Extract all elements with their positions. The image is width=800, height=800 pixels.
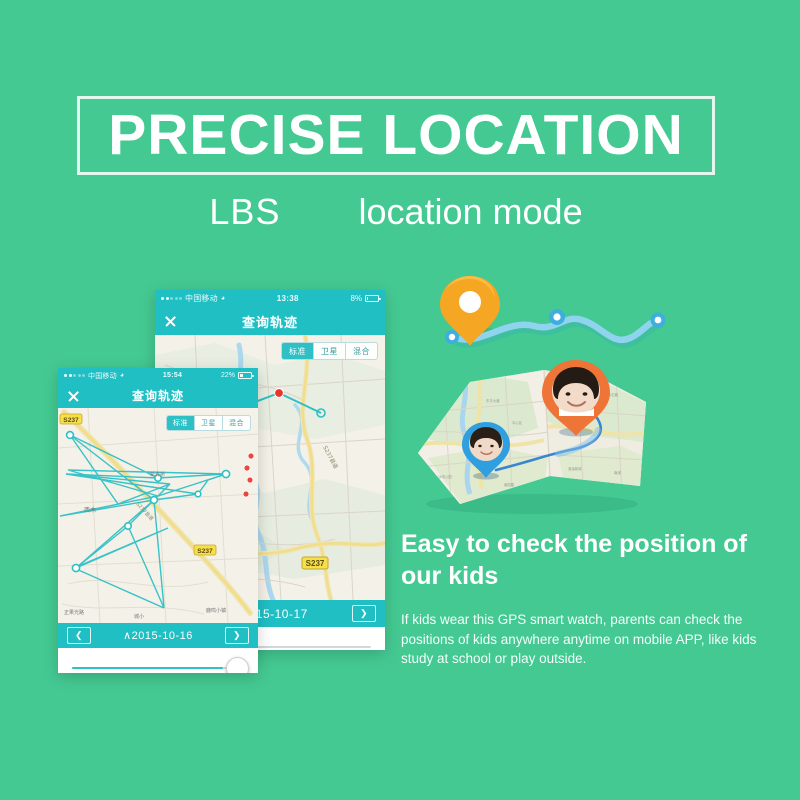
svg-text:鹿鸣小镇: 鹿鸣小镇 (206, 607, 226, 614)
svg-text:正果光路: 正果光路 (64, 609, 84, 616)
svg-text:石基: 石基 (422, 488, 429, 493)
wifi-icon: ◕ (120, 372, 124, 379)
wifi-icon: ◕ (221, 295, 225, 302)
date-label-front: ∧2015-10-16 (123, 629, 193, 642)
map-type-tabs-back[interactable]: 标准 卫星 混合 (281, 342, 378, 360)
subtitle-left: LBS (209, 191, 280, 233)
promo-body: If kids wear this GPS smart watch, paren… (401, 610, 769, 669)
svg-text:新界桥: 新界桥 (150, 471, 165, 478)
app-titlebar-back: 查询轨迹 (155, 307, 385, 335)
slider-fill-front (72, 667, 223, 669)
subtitle-row: LBS location mode (77, 186, 715, 238)
map-tab-satellite-back[interactable]: 卫星 (314, 343, 346, 359)
battery-percent-back: 8% (350, 294, 362, 303)
clock-front: 15:54 (128, 372, 217, 379)
chevron-left-icon[interactable]: ❮ (67, 627, 91, 644)
date-navigator-front: ❮ ∧2015-10-16 ❯ (58, 623, 258, 648)
highway-shield-back: S237 (302, 557, 328, 569)
status-left-front: 中国移动 ◕ (64, 371, 124, 381)
map-art-front: S237 S237 西木 新界桥 S237县道 正果光路 城小 鹿鸣小镇 (58, 408, 258, 623)
highway-shield-front-top: S237 (60, 414, 82, 424)
playback-slider-front[interactable] (58, 648, 258, 673)
svg-text:龙津路: 龙津路 (430, 406, 441, 411)
svg-text:西木: 西木 (84, 506, 96, 514)
svg-text:洛溪新城: 洛溪新城 (568, 466, 582, 471)
app-titlebar-front: 查询轨迹 (58, 383, 258, 408)
map-type-tabs-front[interactable]: 标准 卫星 混合 (166, 415, 251, 431)
map-tab-satellite-front[interactable]: 卫星 (195, 416, 223, 430)
svg-text:中心区: 中心区 (512, 420, 523, 425)
poster-canvas: PRECISE LOCATION LBS location mode 中国移动 … (0, 0, 800, 800)
status-bar-front: 中国移动 ◕ 15:54 22% (58, 368, 258, 383)
battery-icon (365, 295, 379, 302)
phone-screenshot-front: 中国移动 ◕ 15:54 22% 查询轨迹 (58, 368, 258, 673)
subtitle-right: location mode (358, 191, 582, 233)
status-bar-back: 中国移动 ◕ 13:38 8% (155, 290, 385, 307)
page-title: PRECISE LOCATION (77, 96, 715, 175)
svg-text:S237: S237 (306, 559, 325, 568)
svg-text:沙湾公园: 沙湾公园 (438, 474, 452, 479)
carrier-label-front: 中国移动 (88, 371, 117, 381)
signal-dots-icon (64, 374, 85, 377)
map-canvas-front[interactable]: S237 S237 西木 新界桥 S237县道 正果光路 城小 鹿鸣小镇 标准 … (58, 408, 258, 623)
battery-icon (238, 372, 252, 379)
chevron-right-icon[interactable]: ❯ (352, 605, 376, 622)
status-right-back: 8% (350, 294, 379, 303)
close-icon[interactable] (67, 389, 80, 402)
map-tab-standard-front[interactable]: 标准 (167, 416, 195, 430)
route-illustration (432, 272, 672, 372)
svg-text:东平大道: 东平大道 (486, 398, 500, 403)
map-tab-hybrid-front[interactable]: 混合 (223, 416, 250, 430)
signal-dots-icon (161, 297, 182, 300)
app-title-back: 查询轨迹 (155, 312, 385, 331)
svg-text:S237: S237 (63, 417, 79, 424)
close-icon[interactable] (164, 315, 177, 328)
slider-track-front[interactable] (72, 667, 244, 669)
status-right-front: 22% (221, 372, 252, 379)
clock-back: 13:38 (229, 294, 346, 303)
chevron-right-icon[interactable]: ❯ (225, 627, 249, 644)
highway-shield-front-bottom: S237 (194, 545, 216, 555)
carrier-label-back: 中国移动 (185, 293, 218, 304)
status-left-back: 中国移动 ◕ (161, 293, 225, 304)
battery-percent-front: 22% (221, 372, 235, 379)
map-tab-standard-back[interactable]: 标准 (282, 343, 314, 359)
svg-text:S237: S237 (197, 548, 213, 555)
app-title-front: 查询轨迹 (58, 387, 258, 404)
svg-text:城小: 城小 (134, 613, 144, 620)
promo-heading: Easy to check the position of our kids (401, 528, 781, 592)
folded-map-illustration: 龙津路东平大道 沙湾公园南园路 石基中心区 市桥北路大石路 洛溪新城南浦 (408, 358, 648, 518)
map-tab-hybrid-back[interactable]: 混合 (346, 343, 377, 359)
slider-knob-front[interactable] (226, 657, 249, 673)
svg-text:南园路: 南园路 (504, 482, 515, 487)
svg-text:南浦: 南浦 (614, 470, 621, 475)
